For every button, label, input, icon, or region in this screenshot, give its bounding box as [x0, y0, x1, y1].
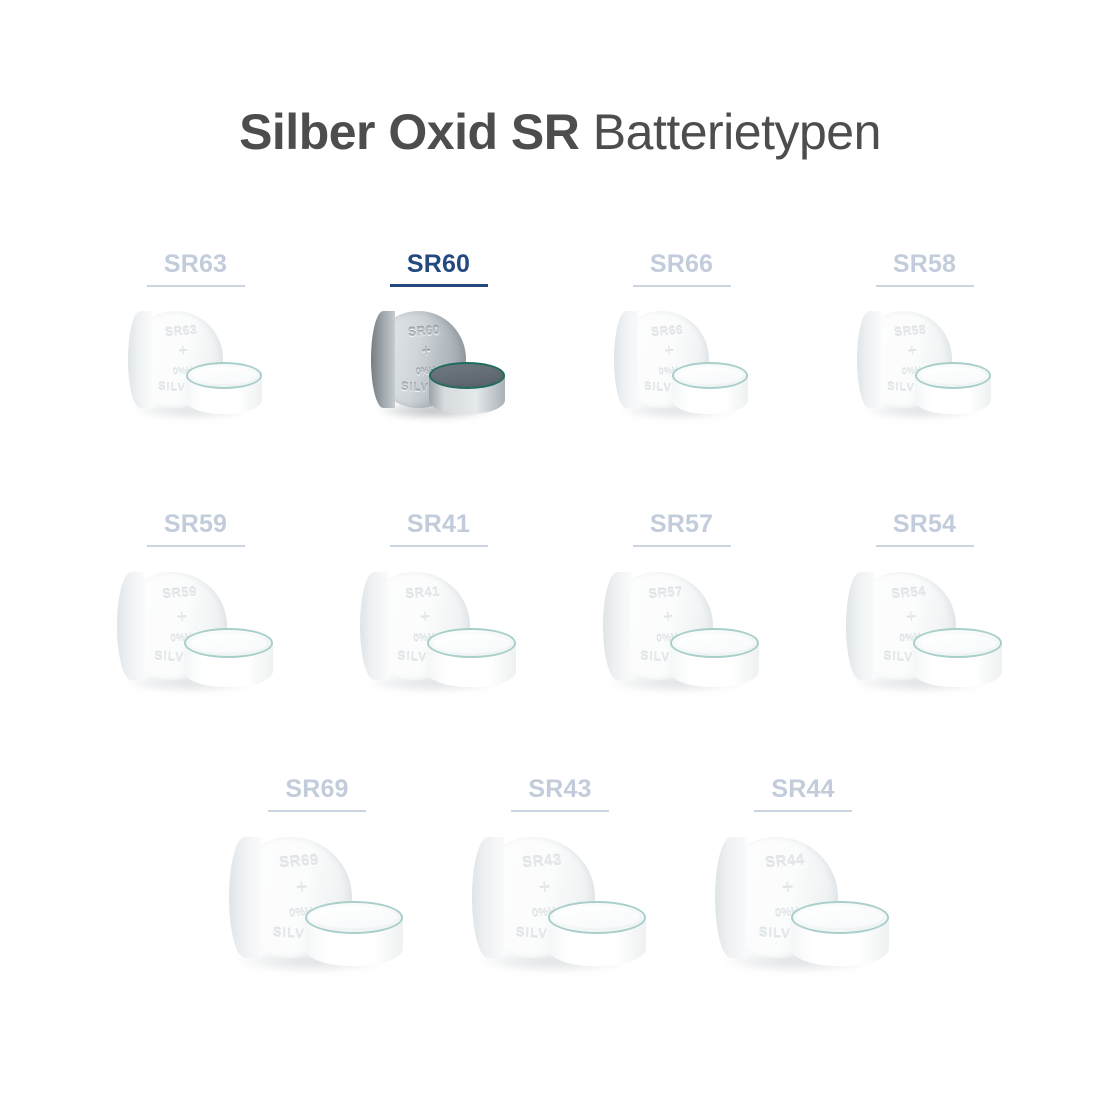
battery-type-label: SR63	[164, 250, 227, 278]
label-underline	[390, 545, 488, 547]
marking-polarity-plus-icon: +	[781, 878, 795, 899]
marking-polarity-plus-icon: +	[295, 878, 309, 899]
label-underline	[147, 545, 245, 547]
marking-type-code: SR66	[651, 324, 684, 338]
battery-illustration: SR58+0%HgSILVER O	[857, 309, 993, 427]
battery-type-link-sr54[interactable]: SR54	[893, 510, 956, 547]
label-underline	[147, 285, 245, 287]
battery-type-link-sr44[interactable]: SR44	[771, 775, 834, 812]
battery-type-label: SR66	[650, 250, 713, 278]
battery-illustration: SR41+0%HgSILVER O	[360, 569, 518, 701]
battery-type-label: SR59	[164, 510, 227, 538]
coin-top-face	[184, 628, 272, 658]
coin-top-face	[186, 362, 262, 389]
battery-row-1: SR63SR63+0%HgSILVER OSR60SR60+0%HgSILVER…	[0, 250, 1120, 510]
label-underline	[876, 285, 974, 287]
coin-side-rim	[715, 837, 747, 958]
battery-illustration: SR54+0%HgSILVER O	[846, 569, 1004, 701]
battery-type-link-sr57[interactable]: SR57	[650, 510, 713, 547]
battery-type-link-sr43[interactable]: SR43	[528, 775, 591, 812]
label-underline	[511, 810, 609, 812]
coin-top-inner	[920, 634, 996, 654]
coin-top-face	[429, 362, 505, 389]
marking-polarity-plus-icon: +	[419, 608, 431, 627]
coin-top-face	[670, 628, 758, 658]
battery-type-link-sr58[interactable]: SR58	[893, 250, 956, 287]
coin-side-rim	[603, 572, 632, 680]
marking-polarity-plus-icon: +	[664, 344, 675, 361]
marking-type-code: SR41	[405, 586, 441, 601]
battery-illustration: SR44+0%HgSILVER O	[715, 834, 891, 982]
battery-type-label: SR44	[771, 775, 834, 803]
marking-type-code: SR63	[165, 324, 198, 338]
battery-illustration: SR69+0%HgSILVER O	[229, 834, 405, 982]
battery-row-3: SR69SR69+0%HgSILVER OSR43SR43+0%HgSILVER…	[0, 775, 1120, 1040]
coin-top-inner	[554, 906, 639, 928]
coin-top-face	[672, 362, 748, 389]
coin-top-inner	[311, 906, 396, 928]
coin-side-rim	[371, 311, 396, 408]
coin-top-face	[913, 628, 1001, 658]
marking-type-code: SR59	[162, 586, 198, 601]
marking-polarity-plus-icon: +	[421, 344, 432, 361]
battery-illustration: SR60+0%HgSILVER O	[371, 309, 507, 427]
coin-top-inner	[677, 634, 753, 654]
label-underline	[633, 545, 731, 547]
battery-illustration: SR57+0%HgSILVER O	[603, 569, 761, 701]
battery-type-card-sr59[interactable]: SR59SR59+0%HgSILVER O	[74, 510, 317, 775]
battery-illustration: SR43+0%HgSILVER O	[472, 834, 648, 982]
marking-polarity-plus-icon: +	[178, 344, 189, 361]
lying-coin-cell	[672, 362, 748, 420]
coin-top-face	[305, 901, 404, 934]
coin-top-inner	[435, 367, 500, 384]
lying-coin-cell	[427, 628, 515, 693]
marking-type-code: SR60	[408, 324, 441, 338]
battery-type-card-sr63[interactable]: SR63SR63+0%HgSILVER O	[74, 250, 317, 510]
battery-type-label: SR43	[528, 775, 591, 803]
marking-polarity-plus-icon: +	[905, 608, 917, 627]
battery-type-grid: SR63SR63+0%HgSILVER OSR60SR60+0%HgSILVER…	[0, 250, 1120, 1040]
marking-type-code: SR69	[279, 853, 320, 871]
coin-top-inner	[434, 634, 510, 654]
page-title-strong: Silber Oxid SR	[239, 104, 579, 160]
coin-side-rim	[128, 311, 153, 408]
label-underline	[876, 545, 974, 547]
coin-side-rim	[472, 837, 504, 958]
coin-side-rim	[360, 572, 389, 680]
battery-type-card-sr58[interactable]: SR58SR58+0%HgSILVER O	[803, 250, 1046, 510]
coin-top-face	[791, 901, 890, 934]
battery-type-card-sr43[interactable]: SR43SR43+0%HgSILVER O	[439, 775, 682, 1040]
coin-top-inner	[678, 367, 743, 384]
battery-type-label: SR60	[407, 250, 470, 278]
battery-type-link-sr59[interactable]: SR59	[164, 510, 227, 547]
coin-top-inner	[797, 906, 882, 928]
battery-type-link-sr66[interactable]: SR66	[650, 250, 713, 287]
label-underline	[390, 284, 488, 287]
lying-coin-cell	[915, 362, 991, 420]
page-title: Silber Oxid SR Batterietypen	[0, 102, 1120, 162]
lying-coin-cell	[548, 901, 647, 974]
marking-polarity-plus-icon: +	[662, 608, 674, 627]
marking-polarity-plus-icon: +	[538, 878, 552, 899]
coin-top-inner	[192, 367, 257, 384]
coin-side-rim	[846, 572, 875, 680]
label-underline	[268, 810, 366, 812]
coin-side-rim	[117, 572, 146, 680]
battery-illustration: SR59+0%HgSILVER O	[117, 569, 275, 701]
lying-coin-cell	[305, 901, 404, 974]
marking-type-code: SR58	[894, 324, 927, 338]
lying-coin-cell	[670, 628, 758, 693]
label-underline	[633, 285, 731, 287]
lying-coin-cell	[186, 362, 262, 420]
coin-top-face	[915, 362, 991, 389]
battery-type-link-sr69[interactable]: SR69	[285, 775, 348, 812]
battery-type-link-sr60[interactable]: SR60	[407, 250, 470, 287]
battery-type-card-sr41[interactable]: SR41SR41+0%HgSILVER O	[317, 510, 560, 775]
battery-type-label: SR69	[285, 775, 348, 803]
battery-illustration: SR63+0%HgSILVER O	[128, 309, 264, 427]
coin-top-inner	[921, 367, 986, 384]
lying-coin-cell	[913, 628, 1001, 693]
lying-coin-cell	[791, 901, 890, 974]
battery-type-label: SR41	[407, 510, 470, 538]
coin-side-rim	[614, 311, 639, 408]
battery-type-card-sr54[interactable]: SR54SR54+0%HgSILVER O	[803, 510, 1046, 775]
marking-type-code: SR44	[765, 853, 806, 871]
battery-type-link-sr63[interactable]: SR63	[164, 250, 227, 287]
marking-polarity-plus-icon: +	[907, 344, 918, 361]
marking-type-code: SR54	[891, 586, 927, 601]
lying-coin-cell	[184, 628, 272, 693]
battery-type-label: SR54	[893, 510, 956, 538]
battery-type-card-sr60[interactable]: SR60SR60+0%HgSILVER O	[317, 250, 560, 510]
marking-type-code: SR57	[648, 586, 684, 601]
marking-type-code: SR43	[522, 853, 563, 871]
battery-type-label: SR58	[893, 250, 956, 278]
battery-type-link-sr41[interactable]: SR41	[407, 510, 470, 547]
battery-type-card-sr66[interactable]: SR66SR66+0%HgSILVER O	[560, 250, 803, 510]
battery-type-label: SR57	[650, 510, 713, 538]
coin-side-rim	[229, 837, 261, 958]
label-underline	[754, 810, 852, 812]
coin-top-face	[427, 628, 515, 658]
coin-top-inner	[191, 634, 267, 654]
coin-side-rim	[857, 311, 882, 408]
lying-coin-cell	[429, 362, 505, 420]
battery-type-card-sr57[interactable]: SR57SR57+0%HgSILVER O	[560, 510, 803, 775]
coin-top-face	[548, 901, 647, 934]
battery-type-card-sr69[interactable]: SR69SR69+0%HgSILVER O	[196, 775, 439, 1040]
battery-row-2: SR59SR59+0%HgSILVER OSR41SR41+0%HgSILVER…	[0, 510, 1120, 775]
page-title-light: Batterietypen	[579, 104, 881, 160]
marking-polarity-plus-icon: +	[176, 608, 188, 627]
battery-illustration: SR66+0%HgSILVER O	[614, 309, 750, 427]
battery-type-card-sr44[interactable]: SR44SR44+0%HgSILVER O	[682, 775, 925, 1040]
